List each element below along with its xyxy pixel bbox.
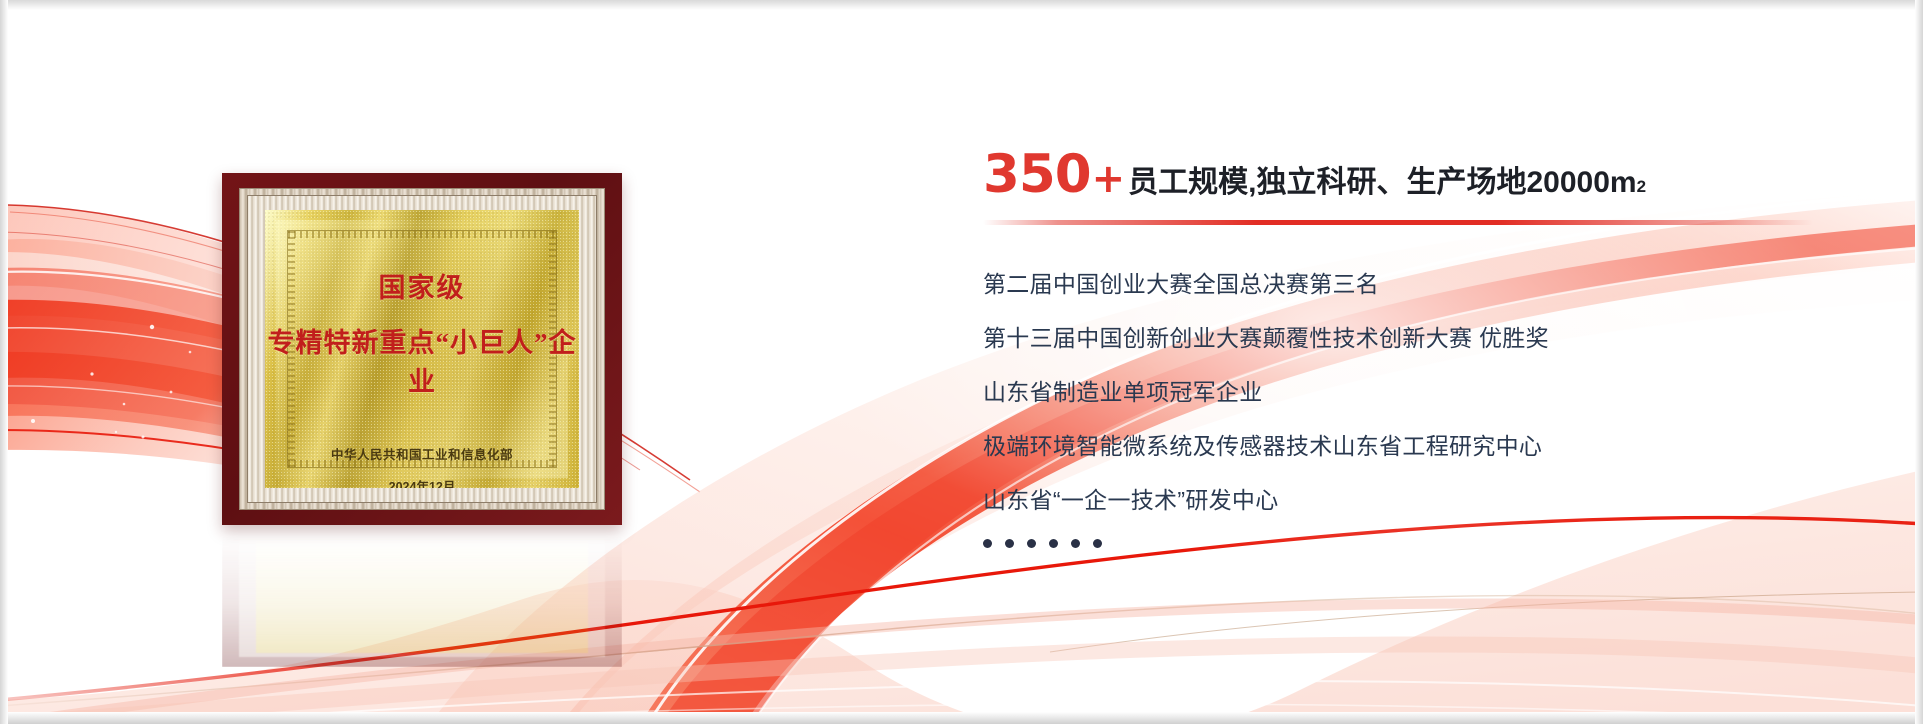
plaque-ornate-inner-line: 国家级 专精特新重点“小巨人”企业 中华人民共和国工业和信息化部 2024年12…: [247, 195, 597, 503]
list-item: 极端环境智能微系统及传感器技术山东省工程研究中心: [983, 419, 1843, 473]
plaque-reflection: [222, 527, 622, 667]
ellipsis-dot: [1005, 539, 1014, 548]
headline-underline: [983, 220, 1813, 225]
banner-stage: 国家级 专精特新重点“小巨人”企业 中华人民共和国工业和信息化部 2024年12…: [0, 0, 1923, 724]
plaque-text-block: 国家级 专精特新重点“小巨人”企业 中华人民共和国工业和信息化部 2024年12…: [265, 210, 579, 488]
ellipsis-dot: [1093, 539, 1102, 548]
headline: 350 + 员工规模,独立科研、生产场地20000m 2: [983, 148, 1843, 201]
plaque-date: 2024年12月: [389, 476, 456, 488]
ellipsis-dots: [983, 539, 1843, 548]
ellipsis-dot: [983, 539, 992, 548]
list-item: 第十三届中国创新创业大赛颠覆性技术创新大赛 优胜奖: [983, 311, 1843, 365]
achievement-list: 第二届中国创业大赛全国总决赛第三名 第十三届中国创新创业大赛颠覆性技术创新大赛 …: [983, 257, 1843, 527]
reflection-gold-plate: [256, 541, 588, 653]
plaque-title-line-2: 专精特新重点“小巨人”企业: [265, 321, 579, 399]
plaque-title-line-1: 国家级: [379, 266, 466, 305]
plaque-frame: 国家级 专精特新重点“小巨人”企业 中华人民共和国工业和信息化部 2024年12…: [222, 173, 622, 525]
headline-text: 员工规模,独立科研、生产场地20000m: [1128, 168, 1636, 198]
right-edge-shade: [1915, 0, 1923, 724]
left-edge-shade: [0, 0, 8, 724]
list-item: 山东省“一企一技术”研发中心: [983, 473, 1843, 527]
plaque-ornate-border: 国家级 专精特新重点“小巨人”企业 中华人民共和国工业和信息化部 2024年12…: [239, 188, 605, 510]
headline-superscript: 2: [1637, 178, 1646, 195]
list-item: 山东省制造业单项冠军企业: [983, 365, 1843, 419]
bottom-edge-shade: [0, 712, 1923, 724]
list-item: 第二届中国创业大赛全国总决赛第三名: [983, 257, 1843, 311]
ellipsis-dot: [1027, 539, 1036, 548]
award-plaque[interactable]: 国家级 专精特新重点“小巨人”企业 中华人民共和国工业和信息化部 2024年12…: [222, 173, 622, 525]
content-column: 350 + 员工规模,独立科研、生产场地20000m 2 第二届中国创业大赛全国…: [983, 148, 1843, 548]
plaque-issuer: 中华人民共和国工业和信息化部: [331, 444, 513, 463]
reflection-band: [239, 527, 605, 657]
ellipsis-dot: [1071, 539, 1080, 548]
headline-number: 350: [983, 148, 1091, 201]
top-edge-shade: [0, 0, 1923, 10]
headline-plus-sign: +: [1092, 159, 1126, 199]
ellipsis-dot: [1049, 539, 1058, 548]
reflection-frame: [222, 527, 622, 667]
plaque-gold-plate: 国家级 专精特新重点“小巨人”企业 中华人民共和国工业和信息化部 2024年12…: [265, 210, 579, 488]
